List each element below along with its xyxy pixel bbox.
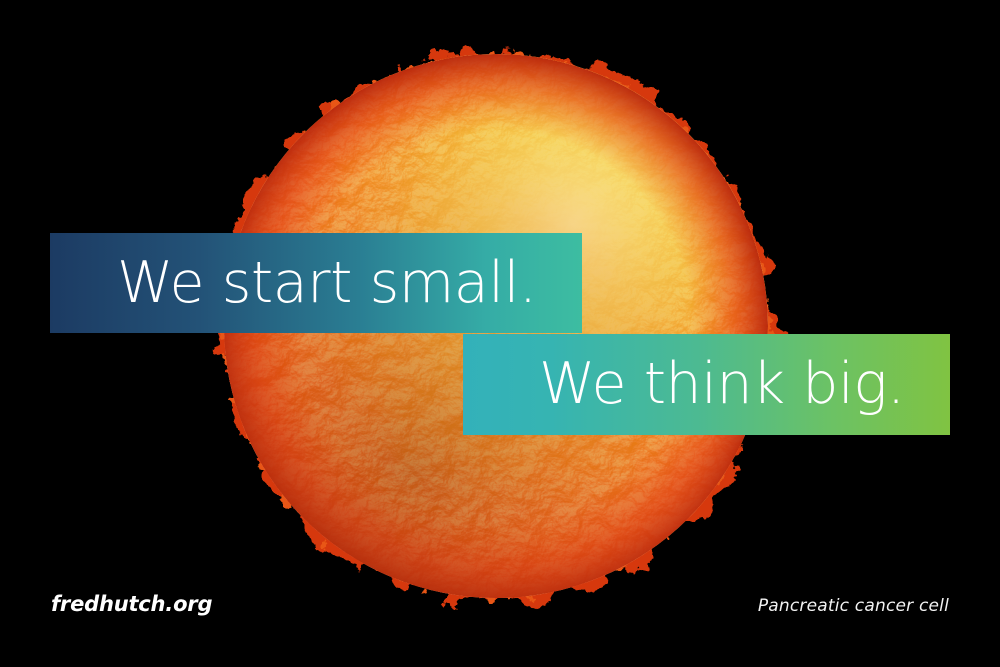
headline-text-we-start-small: We start small.: [117, 255, 537, 312]
site-url-label[interactable]: fredhutch.org: [51, 592, 212, 616]
headline-text-we-think-big: We think big.: [539, 356, 905, 413]
image-caption-label: Pancreatic cancer cell: [758, 596, 949, 616]
poster-canvas: We start small. We think big. fredhutch.…: [0, 0, 1000, 667]
headline-banner-we-think-big: We think big.: [463, 334, 950, 435]
headline-banner-we-start-small: We start small.: [50, 233, 582, 333]
